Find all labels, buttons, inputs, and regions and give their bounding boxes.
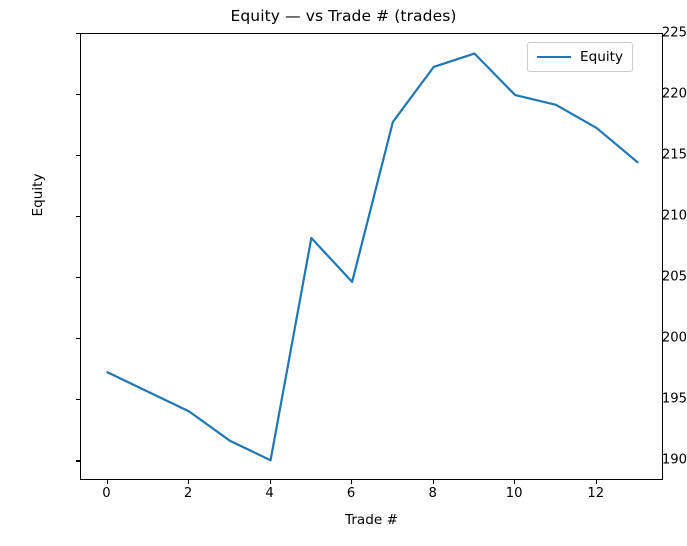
legend-line-swatch-equity [537,56,571,59]
plot-area [80,33,663,480]
chart-title: Equity — vs Trade # (trades) [0,7,687,25]
x-axis-tick-label: 4 [265,487,273,500]
x-axis-label: Trade # [80,512,663,528]
legend-label-equity: Equity [580,49,623,65]
x-axis-tick-label: 0 [102,487,110,500]
x-axis-tick-label: 10 [506,487,523,500]
x-axis-tick-label: 8 [428,487,436,500]
x-axis-tick-label: 12 [587,487,604,500]
y-axis-label: Equity [30,125,46,265]
x-axis-tick-label: 6 [347,487,355,500]
x-axis-tick-label: 2 [184,487,192,500]
chart-figure: Equity — vs Trade # (trades) 19019520020… [0,0,687,546]
chart-legend: Equity [527,42,633,72]
equity-series-line [108,54,638,461]
equity-line-plot [81,34,664,481]
